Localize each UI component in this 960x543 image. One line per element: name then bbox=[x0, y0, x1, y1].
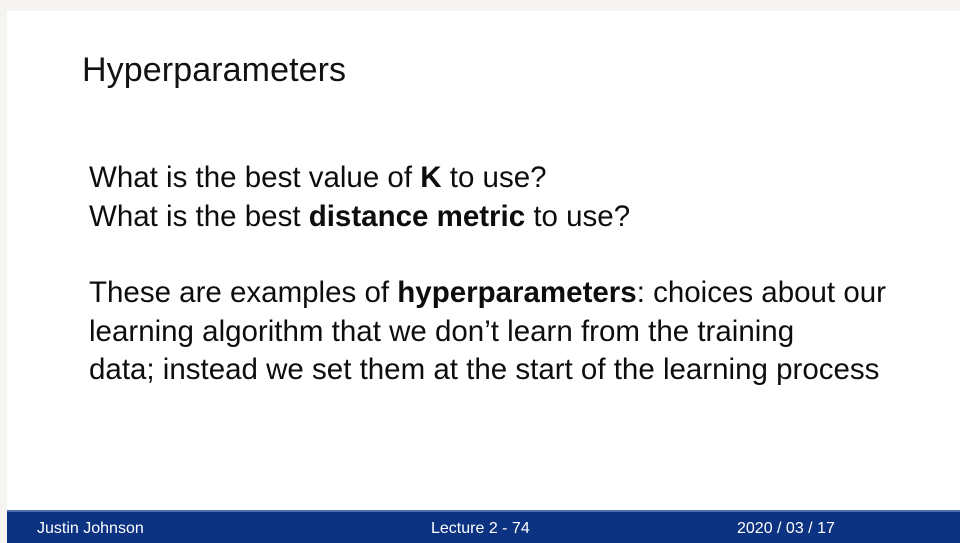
footer-date: 2020 / 03 / 17 bbox=[737, 519, 835, 539]
definition-paragraph: These are examples of hyperparameters: c… bbox=[89, 274, 909, 390]
definition-line-1: These are examples of hyperparameters: c… bbox=[89, 274, 909, 313]
slide-footer: Justin Johnson Lecture 2 - 74 2020 / 03 … bbox=[7, 510, 960, 543]
question-line-2: What is the best distance metric to use? bbox=[89, 198, 909, 237]
question-2-prefix: What is the best bbox=[89, 200, 309, 233]
question-1-emphasis: K bbox=[420, 161, 441, 194]
question-2-emphasis: distance metric bbox=[309, 200, 525, 233]
slide-canvas: Hyperparameters What is the best value o… bbox=[7, 11, 960, 543]
question-2-suffix: to use? bbox=[525, 200, 630, 233]
slide-body: What is the best value of K to use? What… bbox=[89, 159, 909, 390]
question-1-text: What is the best value of K to use? bbox=[89, 159, 909, 198]
paragraph-spacer bbox=[89, 236, 909, 274]
footer-author: Justin Johnson bbox=[37, 519, 144, 539]
definition-line-2: learning algorithm that we don’t learn f… bbox=[89, 313, 909, 352]
definition-line-3: data; instead we set them at the start o… bbox=[89, 351, 909, 390]
footer-lecture-number: Lecture 2 - 74 bbox=[431, 519, 530, 539]
question-1-suffix: to use? bbox=[442, 161, 547, 194]
definition-line-1-suffix: : choices about our bbox=[637, 276, 886, 309]
question-2-text: What is the best distance metric to use? bbox=[89, 198, 909, 237]
question-line-1: What is the best value of K to use? bbox=[89, 159, 909, 198]
definition-emphasis: hyperparameters bbox=[397, 276, 636, 309]
question-1-prefix: What is the best value of bbox=[89, 161, 420, 194]
page-title: Hyperparameters bbox=[82, 49, 346, 91]
slide: Hyperparameters What is the best value o… bbox=[0, 0, 960, 543]
definition-line-1-prefix: These are examples of bbox=[89, 276, 397, 309]
